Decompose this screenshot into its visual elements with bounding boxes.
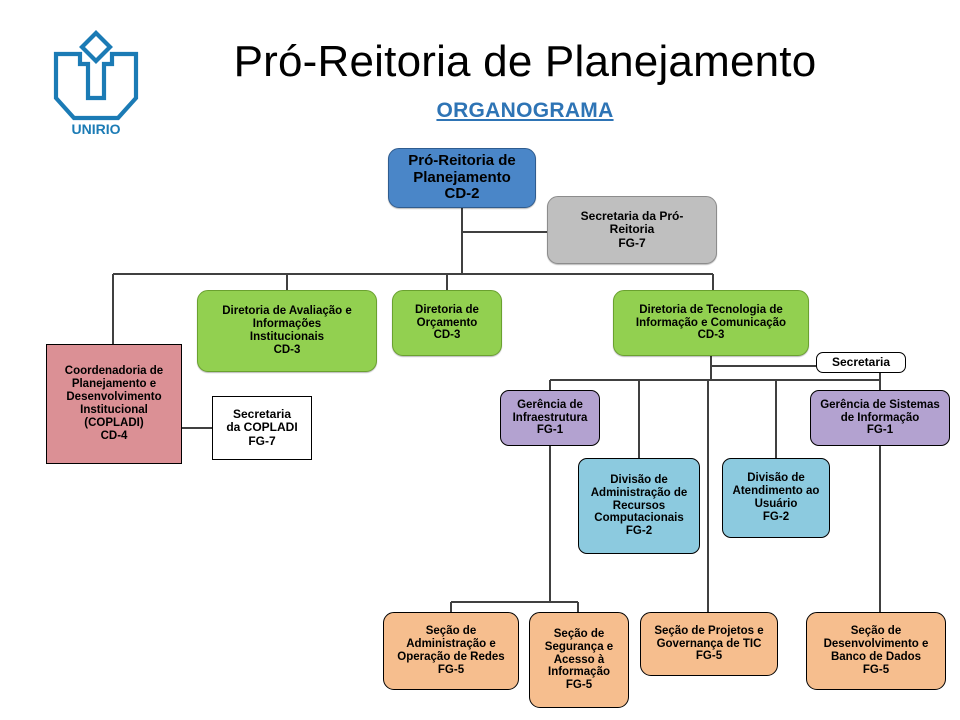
org-node-ger-sistemas[interactable]: Gerência de Sistemas de Informação FG-1 bbox=[810, 390, 950, 446]
organogram-page: UNIRIO Pró-Reitoria de Planejamento ORGA… bbox=[0, 0, 960, 720]
org-node-sec-desenv[interactable]: Seção de Desenvolvimento e Banco de Dado… bbox=[806, 612, 946, 690]
org-node-sec-seguranca[interactable]: Seção de Segurança e Acesso à Informação… bbox=[529, 612, 629, 708]
org-node-div-arc[interactable]: Divisão de Administração de Recursos Com… bbox=[578, 458, 700, 554]
org-node-sec-copladi[interactable]: Secretaria da COPLADI FG-7 bbox=[212, 396, 312, 460]
org-node-sec-dtic[interactable]: Secretaria bbox=[816, 352, 906, 373]
org-node-sec-projetos[interactable]: Seção de Projetos e Governança de TIC FG… bbox=[640, 612, 778, 676]
org-node-dorc[interactable]: Diretoria de Orçamento CD-3 bbox=[392, 290, 502, 356]
org-node-ger-infra[interactable]: Gerência de Infraestrutura FG-1 bbox=[500, 390, 600, 446]
org-node-sec-proreitoria[interactable]: Secretaria da Pró- Reitoria FG-7 bbox=[547, 196, 717, 264]
org-node-dtic[interactable]: Diretoria de Tecnologia de Informação e … bbox=[613, 290, 809, 356]
org-node-dai[interactable]: Diretoria de Avaliação e Informações Ins… bbox=[197, 290, 377, 372]
org-node-sec-adm-redes[interactable]: Seção de Administração e Operação de Red… bbox=[383, 612, 519, 690]
org-node-proplan[interactable]: Pró-Reitoria de Planejamento CD-2 bbox=[388, 148, 536, 208]
edge-proplan-secretaria bbox=[462, 208, 547, 232]
org-node-copladi[interactable]: Coordenadoria de Planejamento e Desenvol… bbox=[46, 344, 182, 464]
org-node-div-atend[interactable]: Divisão de Atendimento ao Usuário FG-2 bbox=[722, 458, 830, 538]
